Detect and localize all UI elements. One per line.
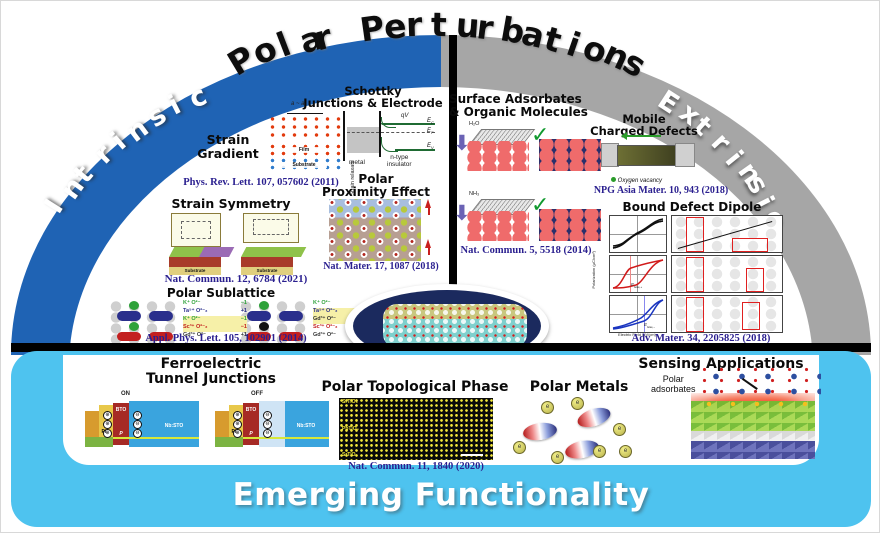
dipole-highlight-3a xyxy=(686,297,704,332)
dipole-grid-3 xyxy=(671,295,783,333)
schottky-metal-label: metal xyxy=(349,159,365,166)
sublattice-r-species-2: Gd³⁺ O²⁻ xyxy=(313,316,336,324)
ftj-line2: Tunnel Junctions xyxy=(111,372,311,387)
adsorbate-molecule-h2o-label: H₂O xyxy=(469,121,479,127)
strain-gradient-line2: Gradient xyxy=(187,147,269,161)
sensing-crystal-surface xyxy=(691,391,815,459)
schottky-ef-label: EF xyxy=(427,128,433,135)
sublattice-r-species-0: K⁺ O²⁻ xyxy=(313,300,330,308)
panel-title-strain-gradient: Strain Gradient xyxy=(187,133,269,160)
strain-symmetry-dash-2 xyxy=(253,219,289,235)
bottom-title: Emerging Functionality xyxy=(1,477,880,513)
polar-metals-electron-4: e xyxy=(513,441,526,454)
polar-metals-electron-6: e xyxy=(593,445,606,458)
oxygen-vacancy-dot-icon xyxy=(611,177,616,182)
figure-canvas: P o l a r P e r t u r b a t i o n s I n … xyxy=(0,0,880,533)
tem-label-bot: SrTiO₃ xyxy=(342,452,370,458)
schottky-ntype: n-type xyxy=(390,154,408,161)
schottky-line2: Junctions & Electrode xyxy=(303,97,443,109)
ftj-off-bto-label: BTO xyxy=(242,407,260,413)
schottky-insulator-label: n-type insulator xyxy=(387,154,412,169)
schottky-ev-label: EV xyxy=(427,143,434,150)
proximity-line2: Proximity Effect xyxy=(313,186,439,199)
ftj-off-p-label: P xyxy=(245,431,257,437)
strain-gradient-line1: Strain xyxy=(187,133,269,147)
hysteresis-chart-red: Ebias,+ xyxy=(609,255,667,293)
tem-scale-bar xyxy=(461,454,483,456)
proximity-arrow-shaft-1 xyxy=(428,207,430,215)
panel-title-ftj: Ferroelectric Tunnel Junctions xyxy=(111,357,311,387)
dipole-highlight-1a xyxy=(686,217,704,252)
polar-metals-electron-7: e xyxy=(619,445,632,458)
strain-gradient-film-label: Film xyxy=(287,147,321,153)
dipole-highlight-3b xyxy=(742,302,760,330)
main-title-c8: r xyxy=(405,5,423,45)
polar-metals-electron-1: e xyxy=(541,401,554,414)
strain-gradient-substrate-label: Substrate xyxy=(281,162,327,168)
strain-symmetry-slab-left: Substrate xyxy=(169,247,229,275)
oxygen-vacancy-label: Oxygen vacancy xyxy=(618,178,662,184)
polar-topological-tem-image: SrTiO₃ PbTiO₃ SrTiO₃ xyxy=(339,398,493,460)
hysteresis-curve-black xyxy=(610,216,666,252)
adsorbate-surface-flat-1 xyxy=(539,139,601,171)
panel-title-surface-adsorbates: Surface Adsorbates & Organic Molecules xyxy=(449,93,599,119)
polar-metals-diagram: e e e e e e e xyxy=(509,397,645,459)
ftj-device-on: ⊕ ⊕ ⊕ ⊖ ⊖ ⊖ Pt BTO Nb:STO P xyxy=(85,401,215,451)
main-title-c11: r xyxy=(475,7,496,48)
main-title-c5 xyxy=(331,12,350,52)
strain-symmetry-dash-1 xyxy=(181,221,211,239)
sensing-annotation: Polar adsorbates xyxy=(651,375,696,395)
polar-metals-electron-5: e xyxy=(551,451,564,464)
intrinsic-c8: c xyxy=(185,80,212,115)
hysteresis-chart-black xyxy=(609,215,667,253)
panel-title-polar-topological: Polar Topological Phase xyxy=(309,380,521,395)
ftj-on-bto-label: BTO xyxy=(112,407,130,413)
main-title-arc: P o l a r P e r t u r b a t i o n s xyxy=(1,3,880,79)
hysteresis-curve-blue xyxy=(610,296,666,332)
panel-title-bound-defect-dipole: Bound Defect Dipole xyxy=(607,201,777,214)
citation-npg-asia-10: NPG Asia Mater. 10, 943 (2018) xyxy=(573,185,749,196)
schottky-insulator: insulator xyxy=(387,161,412,168)
dipole-highlight-2a xyxy=(686,257,704,292)
citation-natcommun-12: Nat. Commun. 12, 6784 (2021) xyxy=(131,273,341,285)
adsorbates-line2: & Organic Molecules xyxy=(449,106,599,119)
ftj-device-off: ⊕ ⊕ ⊕ ⊖ ⊖ ⊖ Pt BTO Nb:STO P xyxy=(215,401,345,451)
proximity-arrow-shaft-2 xyxy=(428,247,430,255)
sublattice-l-species-3: Sc³⁺ O²⁻₂ xyxy=(183,324,207,332)
adsorbate-molecule-nh3-label: NH₃ xyxy=(469,191,479,197)
tem-label-mid: PbTiO₃ xyxy=(342,426,370,432)
panel-title-schottky: Schottky Junctions & Electrode xyxy=(303,85,443,110)
center-oval-lattice xyxy=(383,304,527,348)
polar-metals-dipole-1 xyxy=(522,421,558,443)
main-title-c7: e xyxy=(382,6,408,47)
sublattice-l-charge-0: −1 xyxy=(241,300,247,308)
ftj-state-on: ON xyxy=(121,391,130,397)
sublattice-l-charge-2: −1 xyxy=(241,316,247,324)
polar-proximity-lattice xyxy=(329,199,421,261)
panel-title-polar-sublattice: Polar Sublattice xyxy=(131,287,311,300)
polar-metals-electron-2: e xyxy=(571,397,584,410)
adsorbate-surface-1 xyxy=(467,141,529,171)
dipole-highlight-2b xyxy=(746,268,764,292)
ftj-on-nbsto-label: Nb:STO xyxy=(157,423,191,429)
adsorbates-line1: Surface Adsorbates xyxy=(449,93,599,106)
adsorbate-surface-flat-2 xyxy=(539,209,601,241)
adsorbate-surface-2 xyxy=(467,211,529,241)
sublattice-l-species-2: K⁺ O²⁻ xyxy=(183,316,200,324)
sublattice-l-species-0: K⁺ O²⁻ xyxy=(183,300,200,308)
sensing-gas-molecules xyxy=(701,367,821,399)
ftj-off-pt-label: Pt xyxy=(227,429,241,435)
dipole-grid-1 xyxy=(671,215,783,253)
panel-title-polar-proximity: Polar Proximity Effect xyxy=(313,173,439,199)
ftj-line1: Ferroelectric xyxy=(111,357,311,372)
sensing-annotation-line2: adsorbates xyxy=(651,384,696,394)
strain-symmetry-slab-right: Substrate xyxy=(241,247,301,275)
schottky-ec-label: EC xyxy=(427,118,434,125)
mobile-defects-device xyxy=(601,139,697,171)
hysteresis-ylabel: Polarization (µC/cm²) xyxy=(591,251,596,289)
citation-natcommun-5: Nat. Commun. 5, 5518 (2014) xyxy=(441,245,611,256)
panel-title-polar-metals: Polar Metals xyxy=(517,380,641,395)
polar-metals-electron-3: e xyxy=(613,423,626,436)
hysteresis-red-annotation: Ebias,+ xyxy=(631,282,642,289)
sublattice-r-species-3: Sc³⁺ O²⁻₂ xyxy=(313,324,337,332)
mobile-defects-legend: Oxygen vacancy xyxy=(611,177,662,184)
panel-title-strain-symmetry: Strain Symmetry xyxy=(151,197,311,211)
sublattice-l-species-1: Ta⁵⁺ O²⁻₂ xyxy=(183,308,207,316)
citation-natmater-17: Nat. Mater. 17, 1087 (2018) xyxy=(311,261,451,272)
schottky-qv-label: qV xyxy=(401,113,408,119)
sublattice-l-charge-3: −1 xyxy=(241,324,247,332)
sublattice-r-species-1: Ta⁵⁺ O²⁻₂ xyxy=(313,308,337,316)
dipole-grid-2 xyxy=(671,255,783,293)
intrinsic-c0: I xyxy=(38,194,70,219)
sensing-annotation-line1: Polar xyxy=(663,374,684,384)
tem-label-top: SrTiO₃ xyxy=(342,399,370,405)
strain-gradient-diagram: Film Substrate xyxy=(263,111,347,173)
main-title-c9: t xyxy=(431,5,447,44)
ftj-on-pt-label: Pt xyxy=(97,429,111,435)
dipole-highlight-1b xyxy=(732,238,768,252)
hysteresis-chart-blue: Ebias,− xyxy=(609,295,667,333)
ftj-off-nbsto-label: Nb:STO xyxy=(289,423,323,429)
citation-natcommun-11: Nat. Commun. 11, 1840 (2020) xyxy=(321,461,511,472)
ftj-state-off: OFF xyxy=(251,391,263,397)
hysteresis-blue-annotation: Ebias,− xyxy=(644,322,655,329)
sublattice-l-charge-1: +1 xyxy=(241,308,247,316)
ftj-on-p-label: P xyxy=(115,431,127,437)
proximity-line1: Polar xyxy=(313,173,439,186)
